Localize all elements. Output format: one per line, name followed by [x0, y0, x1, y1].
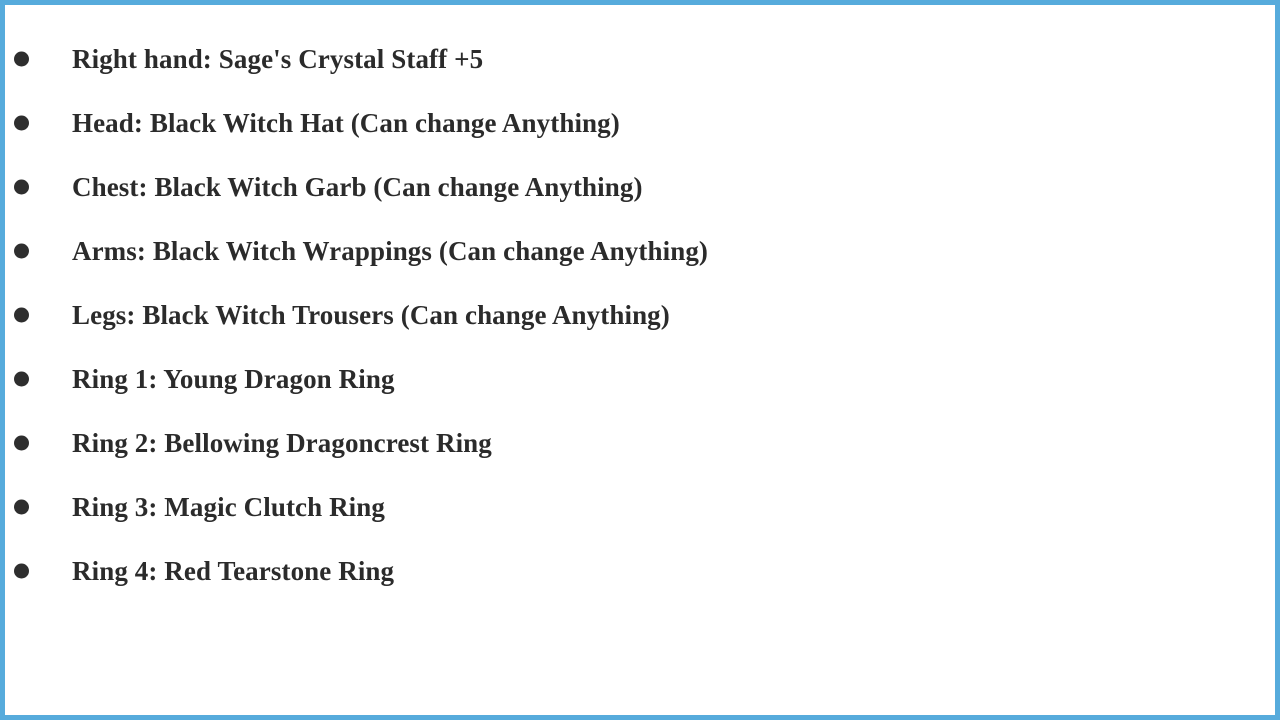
list-item: Chest: Black Witch Garb (Can change Anyt… — [5, 155, 1275, 219]
list-item-label: Ring 3: Magic Clutch Ring — [72, 491, 385, 523]
list-item: Ring 2: Bellowing Dragoncrest Ring — [5, 411, 1275, 475]
bullet-icon — [14, 244, 29, 259]
list-item-label: Head: Black Witch Hat (Can change Anythi… — [72, 107, 620, 139]
list-item-label: Ring 1: Young Dragon Ring — [72, 363, 395, 395]
list-item: Head: Black Witch Hat (Can change Anythi… — [5, 91, 1275, 155]
bullet-icon — [14, 436, 29, 451]
bullet-icon — [14, 564, 29, 579]
list-item-label: Legs: Black Witch Trousers (Can change A… — [72, 299, 670, 331]
list-item-label: Ring 4: Red Tearstone Ring — [72, 555, 394, 587]
list-item-label: Right hand: Sage's Crystal Staff +5 — [72, 43, 483, 75]
bullet-icon — [14, 52, 29, 67]
list-item-label: Ring 2: Bellowing Dragoncrest Ring — [72, 427, 492, 459]
bullet-icon — [14, 308, 29, 323]
list-item: Legs: Black Witch Trousers (Can change A… — [5, 283, 1275, 347]
list-item-label: Arms: Black Witch Wrappings (Can change … — [72, 235, 708, 267]
list-item: Arms: Black Witch Wrappings (Can change … — [5, 219, 1275, 283]
list-item: Ring 1: Young Dragon Ring — [5, 347, 1275, 411]
bullet-icon — [14, 180, 29, 195]
list-item: Ring 3: Magic Clutch Ring — [5, 475, 1275, 539]
document-frame: Right hand: Sage's Crystal Staff +5 Head… — [0, 0, 1280, 720]
bullet-icon — [14, 500, 29, 515]
list-item: Right hand: Sage's Crystal Staff +5 — [5, 27, 1275, 91]
list-item-label: Chest: Black Witch Garb (Can change Anyt… — [72, 171, 643, 203]
bullet-icon — [14, 372, 29, 387]
bullet-icon — [14, 116, 29, 131]
list-item: Ring 4: Red Tearstone Ring — [5, 539, 1275, 603]
equipment-list: Right hand: Sage's Crystal Staff +5 Head… — [5, 27, 1275, 603]
